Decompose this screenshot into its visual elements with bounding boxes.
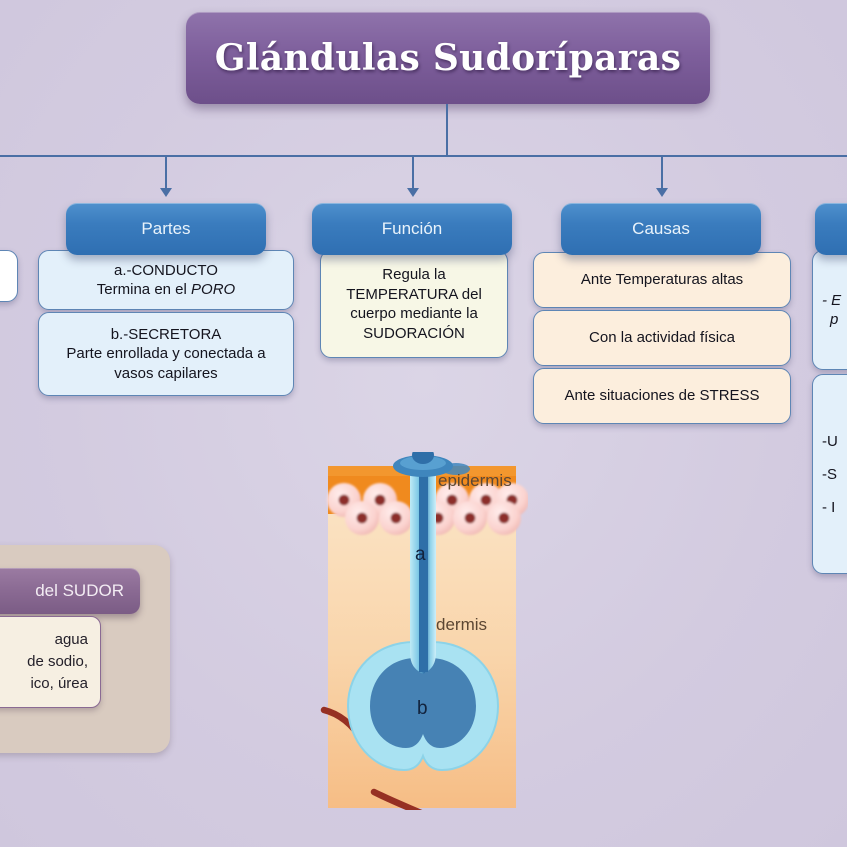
- branch-header-funcion[interactable]: Función: [312, 203, 512, 255]
- connector-title-stem: [446, 104, 448, 156]
- arrowhead-causas: [656, 188, 668, 197]
- branch-header-partes-label: Partes: [141, 219, 190, 239]
- branch-header-causas[interactable]: Causas: [561, 203, 761, 255]
- card-funcion-regula-text: Regula la TEMPERATURA del cuerpo mediant…: [330, 265, 498, 343]
- card-cut-left[interactable]: [0, 250, 18, 302]
- card-partes-secretora[interactable]: b.-SECRETORA Parte enrollada y conectada…: [38, 312, 294, 396]
- card-funcion-regula[interactable]: Regula la TEMPERATURA del cuerpo mediant…: [320, 250, 508, 358]
- card-causas-actividad-text: Con la actividad física: [589, 328, 735, 348]
- card-cut-right-top[interactable]: - E p: [812, 250, 847, 370]
- card-causas-stress-text: Ante situaciones de STRESS: [564, 386, 759, 406]
- sweat-gland-illustration: epidermis dermis a b: [318, 452, 528, 810]
- card-cut-right-bottom-line3: - I: [822, 491, 838, 524]
- card-cut-right-bottom-line2: -S: [822, 458, 838, 491]
- sweat-gland-svg: epidermis dermis a b: [318, 452, 528, 810]
- card-partes-conducto[interactable]: a.-CONDUCTO Termina en el PORO: [38, 250, 294, 310]
- composition-body-card[interactable]: agua de sodio, ico, úrea: [0, 616, 101, 708]
- composition-line-3: ico, úrea: [30, 673, 88, 695]
- card-partes-secretora-line2: Parte enrollada y conectada a vasos capi…: [48, 344, 284, 383]
- dermis-label: dermis: [436, 615, 487, 634]
- card-partes-conducto-line2: Termina en el: [97, 281, 191, 298]
- connector-drop-partes: [165, 156, 167, 190]
- composition-line-2: de sodio,: [27, 651, 88, 673]
- gland-tag-b: b: [417, 698, 428, 719]
- composition-line-1: agua: [55, 629, 88, 651]
- page-title: Glándulas Sudoríparas: [215, 37, 681, 79]
- connector-drop-causas: [661, 156, 663, 190]
- composition-header[interactable]: del SUDOR: [0, 568, 140, 614]
- sweat-duct-lumen: [419, 476, 428, 672]
- card-causas-stress[interactable]: Ante situaciones de STRESS: [533, 368, 791, 424]
- branch-header-partes[interactable]: Partes: [66, 203, 266, 255]
- card-causas-temperaturas[interactable]: Ante Temperaturas altas: [533, 252, 791, 308]
- card-cut-right-top-line2: p: [822, 310, 841, 330]
- card-cut-right-bottom[interactable]: -U -S - I: [812, 374, 847, 574]
- connector-drop-funcion: [412, 156, 414, 190]
- card-causas-actividad[interactable]: Con la actividad física: [533, 310, 791, 366]
- card-cut-right-bottom-line1: -U: [822, 425, 838, 458]
- card-cut-right-top-line1: - E: [822, 291, 841, 311]
- branch-header-funcion-label: Función: [382, 219, 442, 239]
- epidermis-label: epidermis: [438, 471, 512, 490]
- title-node: Glándulas Sudoríparas: [186, 12, 710, 104]
- branch-header-causas-label: Causas: [632, 219, 690, 239]
- card-partes-conducto-line1: a.-CONDUCTO: [97, 261, 235, 281]
- card-partes-conducto-emphasis: PORO: [191, 281, 235, 298]
- diagram-canvas: Glándulas Sudoríparas Partes a.-CONDUCTO…: [0, 0, 847, 847]
- arrowhead-funcion: [407, 188, 419, 197]
- composition-header-label: del SUDOR: [35, 581, 124, 601]
- connector-horizontal-bus: [0, 155, 847, 157]
- card-causas-temperaturas-text: Ante Temperaturas altas: [581, 270, 743, 290]
- branch-header-cut-right[interactable]: [815, 203, 847, 255]
- arrowhead-partes: [160, 188, 172, 197]
- card-partes-secretora-line1: b.-SECRETORA: [48, 325, 284, 345]
- duct-tag-a: a: [415, 544, 426, 565]
